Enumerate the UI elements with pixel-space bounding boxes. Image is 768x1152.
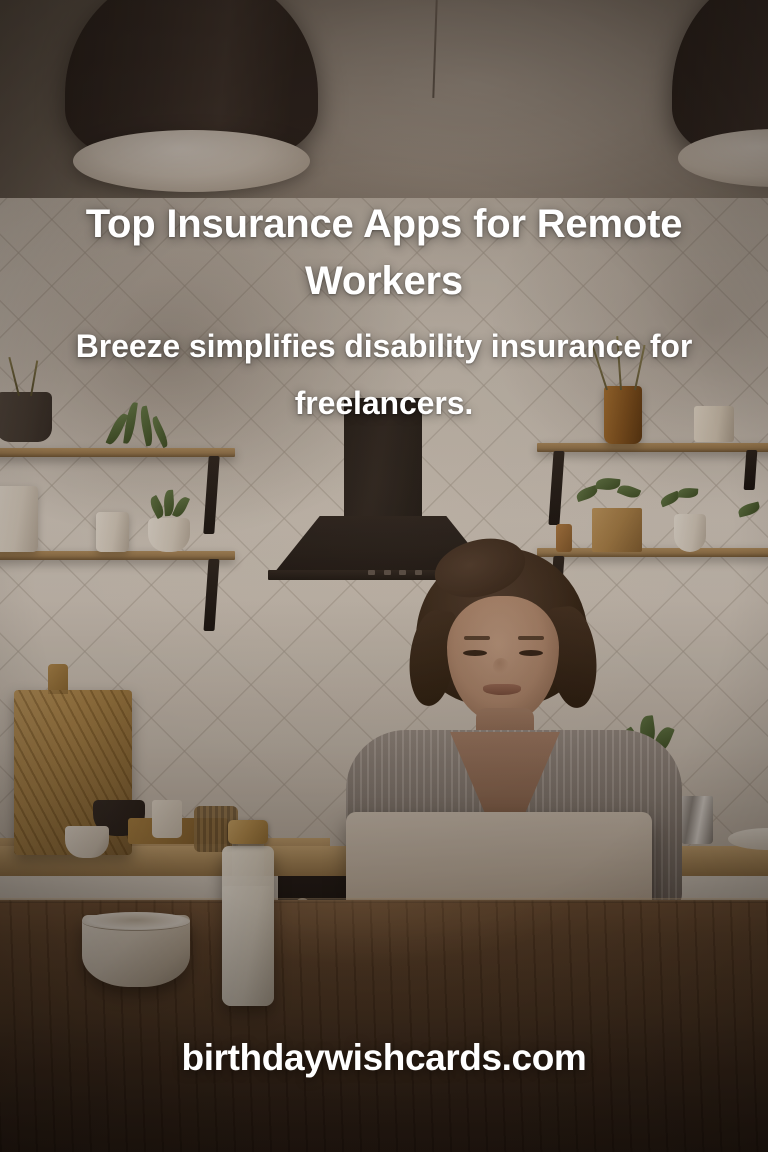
eyebrow-right [518,636,544,640]
eyebrow-left [464,636,490,640]
dark-planter-pot [0,392,52,442]
white-canister-large [0,486,38,552]
milk-fill [222,886,274,1006]
website-url-footer[interactable]: birthdaywishcards.com [0,1036,768,1080]
shelf-left-lower [0,551,235,560]
cork-stopper [228,820,268,844]
white-jar [152,800,182,838]
white-canister-small [96,512,129,552]
mouth-smiling [483,684,521,695]
stainless-steel-cup [681,796,713,844]
kitchen-photo-background [0,0,768,1152]
nose [493,658,509,674]
wooden-crate-planter [592,508,642,552]
bowl-rim [82,912,190,931]
range-hood-flue [344,398,422,520]
pendant-lamp-left-icon [65,0,318,170]
small-white-pot [674,514,706,552]
shelf-right-upper [537,443,768,452]
eye-right [519,650,543,656]
amber-glass-vase [604,386,642,444]
small-white-cup [65,826,109,858]
table-light-reflection [150,900,570,1020]
eye-left [463,650,487,656]
lamp-left-diffuser [73,130,310,192]
shelf-left-upper [0,448,235,457]
candle-jar [694,406,734,442]
pinterest-pin-card: Top Insurance Apps for Remote Workers Br… [0,0,768,1152]
succulent-pot [148,518,190,552]
